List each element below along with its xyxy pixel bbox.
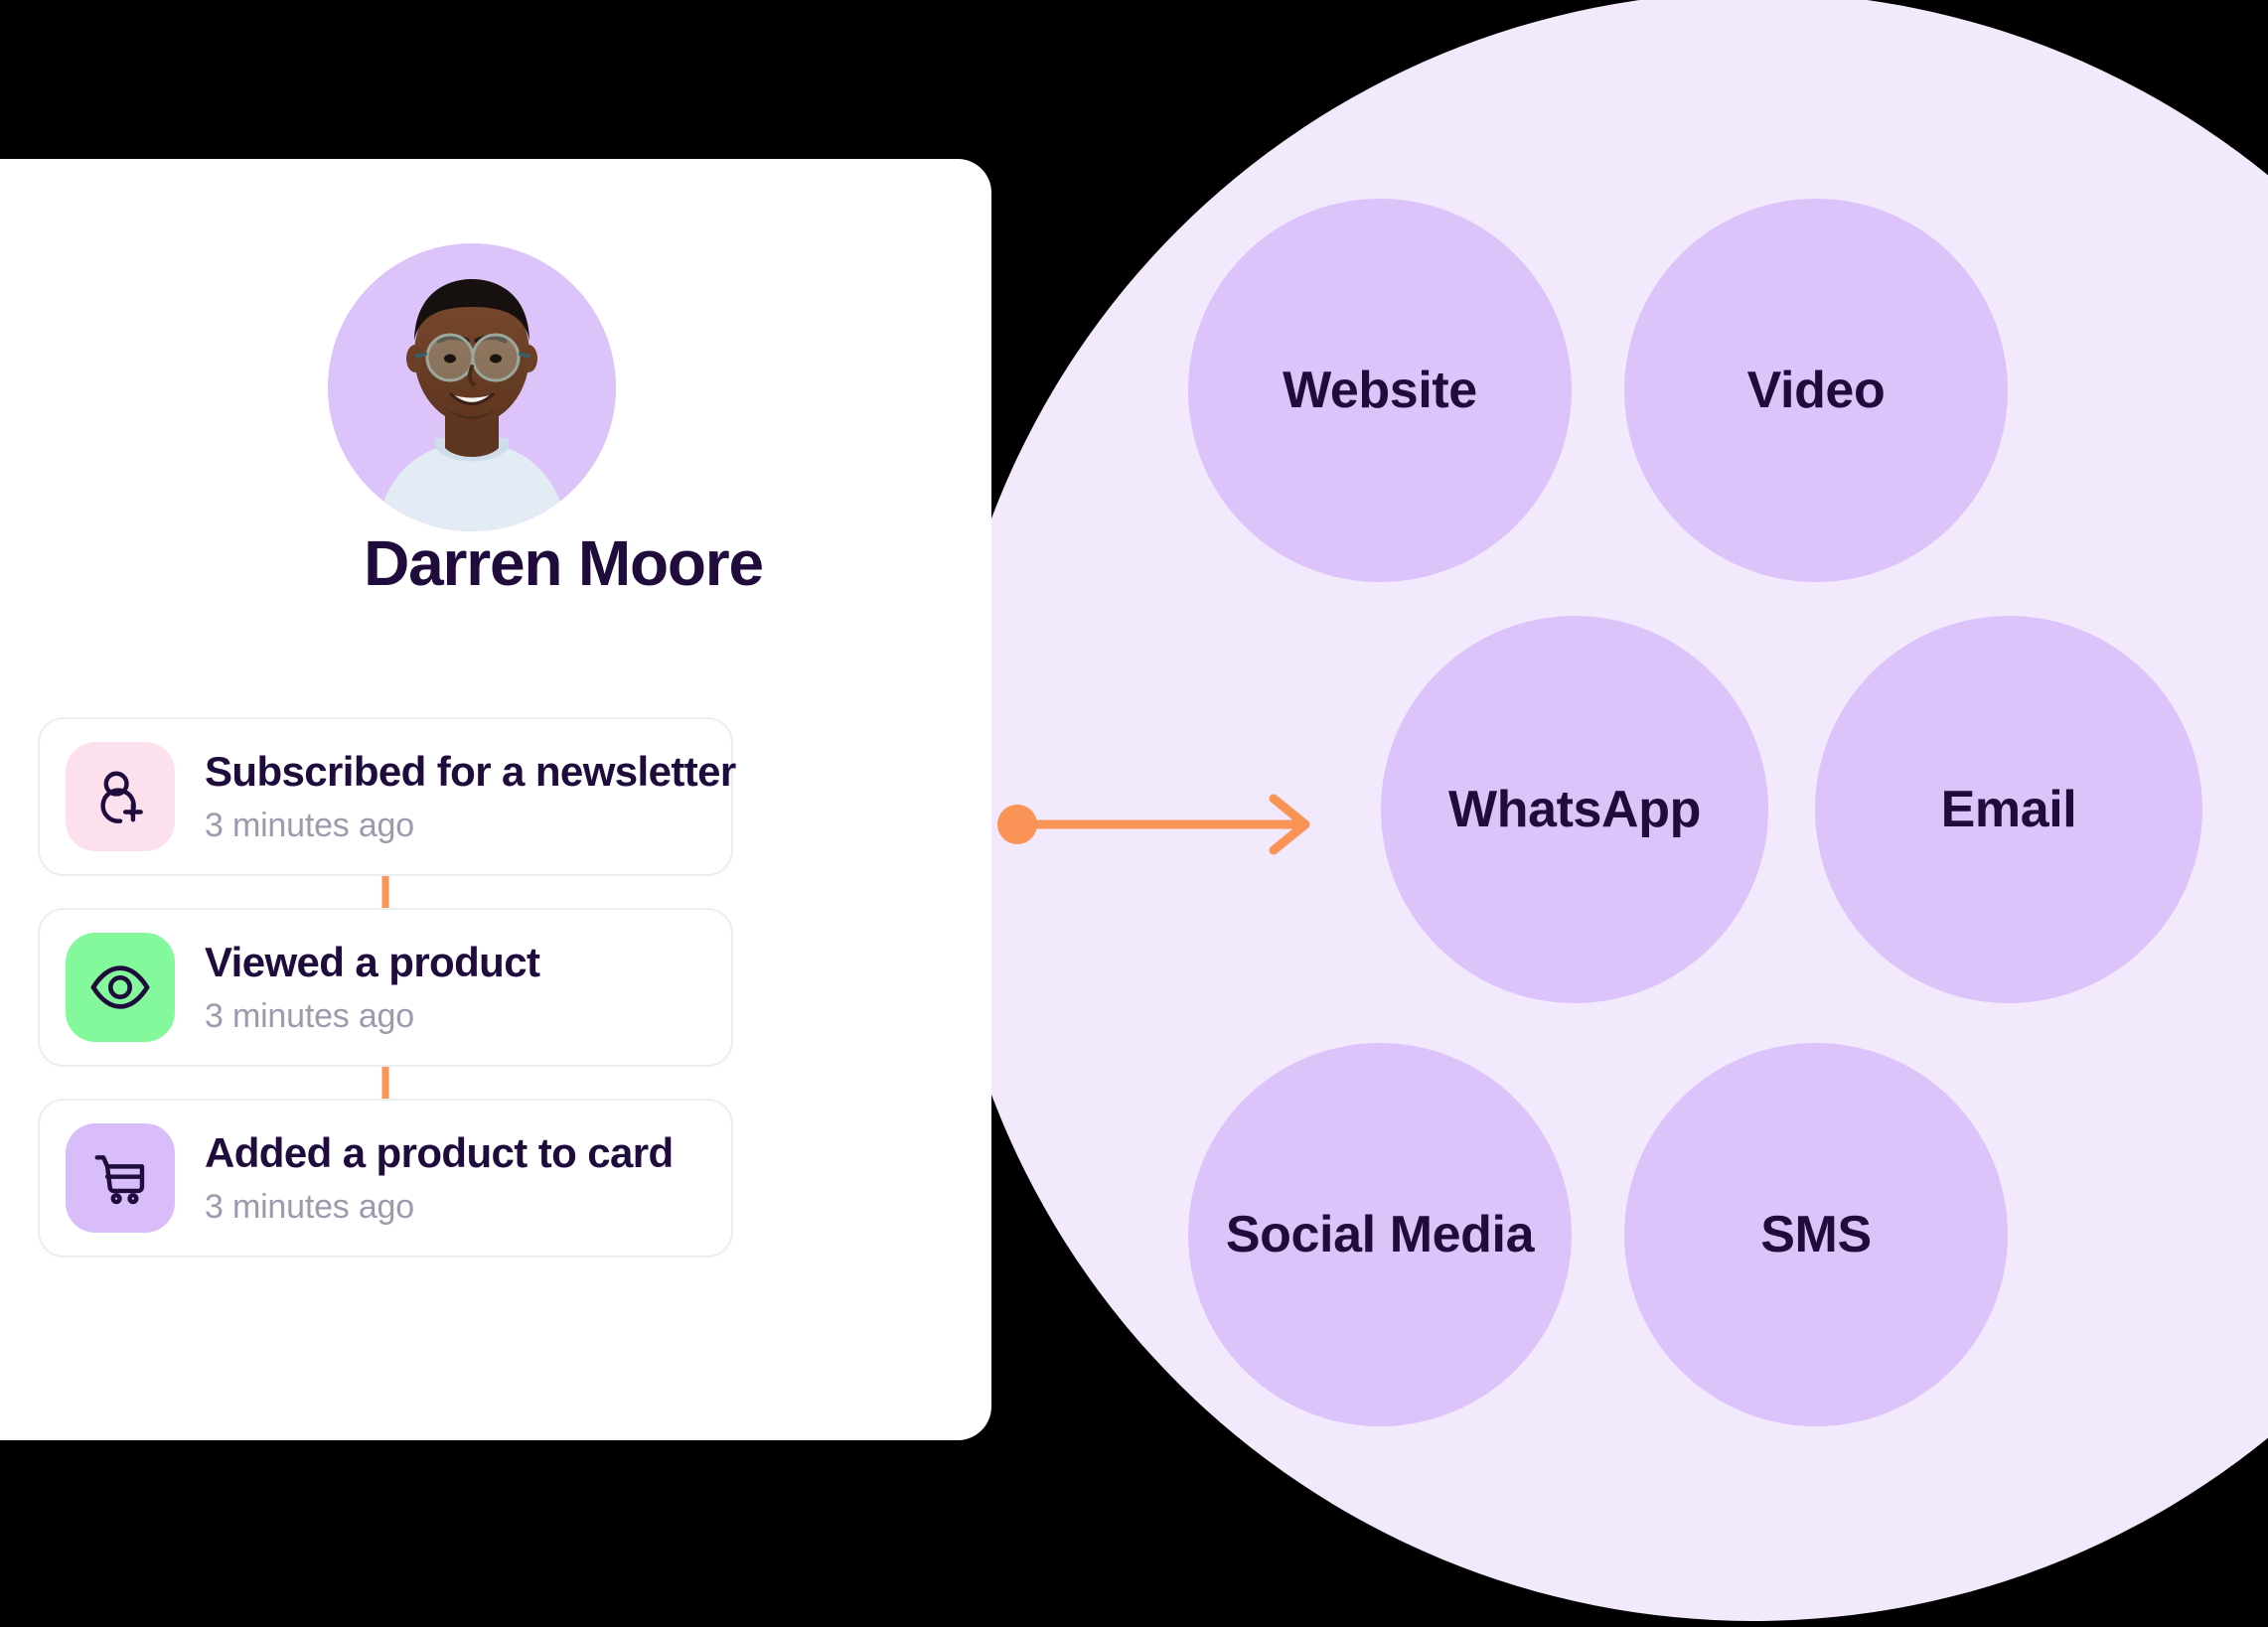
activity-item-added-to-cart[interactable]: Added a product to card 3 minutes ago xyxy=(38,1099,733,1257)
channel-bubble-website[interactable]: Website xyxy=(1188,199,1572,582)
arrow-right-icon xyxy=(997,791,1325,858)
channel-bubble-email[interactable]: Email xyxy=(1815,616,2202,1003)
activity-item-viewed-product[interactable]: Viewed a product 3 minutes ago xyxy=(38,908,733,1067)
channel-label: Website xyxy=(1283,361,1477,420)
user-plus-icon xyxy=(66,742,175,851)
channel-label: Social Media xyxy=(1226,1205,1534,1264)
activity-timestamp: 3 minutes ago xyxy=(205,807,736,845)
timeline-connector xyxy=(38,876,733,908)
avatar xyxy=(328,243,616,531)
profile-card: Darren Moore Subscribed for a newsletter… xyxy=(0,159,991,1440)
activity-title: Subscribed for a newsletter xyxy=(205,748,736,796)
channel-bubble-sms[interactable]: SMS xyxy=(1624,1043,2008,1426)
channel-bubble-whatsapp[interactable]: WhatsApp xyxy=(1381,616,1768,1003)
channel-label: WhatsApp xyxy=(1448,780,1701,839)
activity-title: Viewed a product xyxy=(205,939,539,986)
channel-label: Email xyxy=(1941,780,2077,839)
illustration-canvas: Website Video WhatsApp Email Social Medi… xyxy=(0,0,2268,1627)
activity-text-block: Added a product to card 3 minutes ago xyxy=(205,1129,674,1226)
activity-timeline: Subscribed for a newsletter 3 minutes ag… xyxy=(38,717,733,1257)
channel-bubble-video[interactable]: Video xyxy=(1624,199,2008,582)
eye-icon xyxy=(66,933,175,1042)
activity-text-block: Subscribed for a newsletter 3 minutes ag… xyxy=(205,748,736,844)
activity-timestamp: 3 minutes ago xyxy=(205,1188,674,1227)
user-avatar-photo xyxy=(328,243,616,531)
activity-text-block: Viewed a product 3 minutes ago xyxy=(205,939,539,1035)
timeline-connector xyxy=(38,1067,733,1099)
activity-timestamp: 3 minutes ago xyxy=(205,997,539,1036)
page-title: Darren Moore xyxy=(171,526,956,600)
channel-label: SMS xyxy=(1760,1205,1871,1264)
activity-title: Added a product to card xyxy=(205,1129,674,1177)
activity-item-subscribed[interactable]: Subscribed for a newsletter 3 minutes ag… xyxy=(38,717,733,876)
channel-bubble-social-media[interactable]: Social Media xyxy=(1188,1043,1572,1426)
channel-label: Video xyxy=(1747,361,1886,420)
shopping-cart-icon xyxy=(66,1123,175,1233)
